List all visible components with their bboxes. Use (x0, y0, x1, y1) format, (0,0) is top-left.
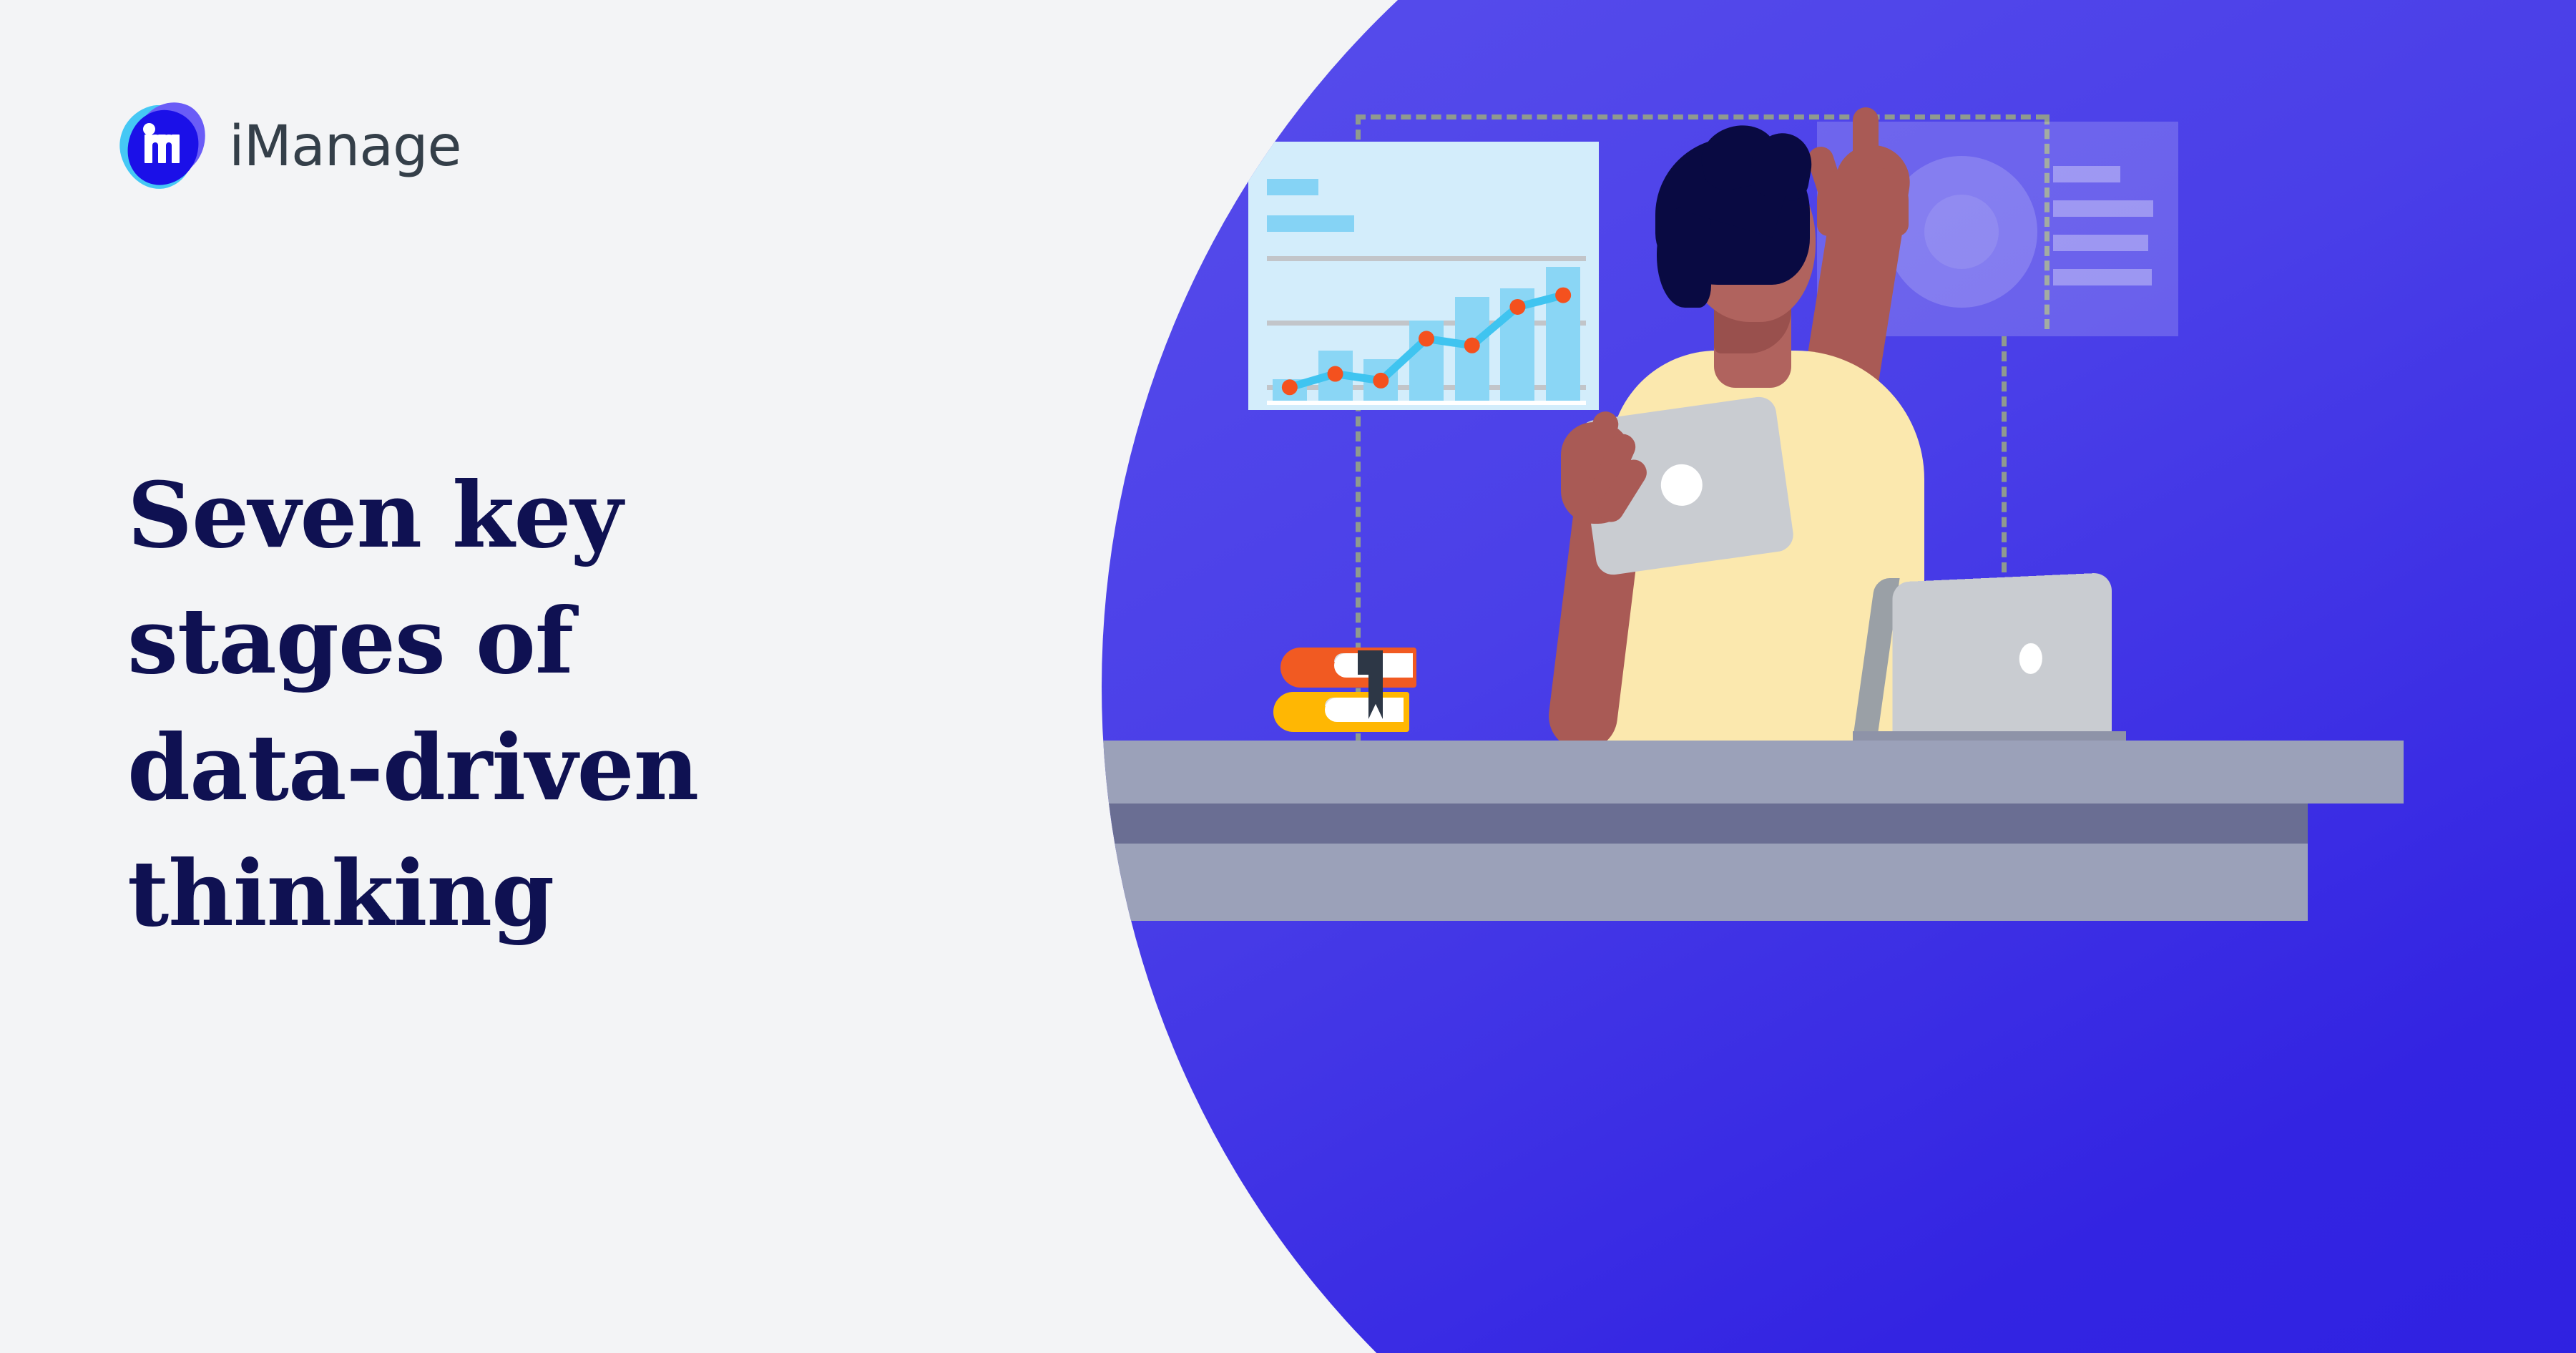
page-title: Seven key stages of data-driven thinking (127, 452, 971, 957)
desk-edge-band (1102, 804, 2308, 844)
chart-data-point (1419, 331, 1434, 346)
logo-dot-icon (143, 123, 155, 135)
person-pointing-hand (1803, 107, 1917, 229)
brand-wordmark: iManage (229, 119, 461, 175)
chart-data-point (1464, 338, 1480, 353)
desk-front-panel (1102, 844, 2308, 921)
chart-data-point (1328, 366, 1343, 382)
chart-header-bar-1 (1267, 179, 1318, 195)
headline-line-4: thinking (127, 831, 971, 957)
headline-line-1: Seven key (127, 452, 971, 578)
person-left-hand (1555, 408, 1648, 537)
brand-lockup[interactable]: iManage (120, 102, 461, 192)
logo-m-glyph-icon (145, 135, 180, 163)
imanage-logo-icon (120, 102, 205, 192)
laptop-device[interactable] (1860, 572, 2121, 744)
book-stack (1273, 648, 1416, 741)
headline-line-3: data-driven (127, 705, 971, 831)
chart-data-point (1282, 379, 1298, 395)
illustration-scene (1102, 0, 2576, 1353)
book-bottom-pages (1325, 698, 1404, 722)
chart-data-point (1373, 373, 1389, 389)
headline-line-2: stages of (127, 578, 971, 704)
person-hair-side (1657, 207, 1711, 308)
desk-surface (1102, 741, 2404, 804)
chart-header-bar-2 (1267, 215, 1354, 232)
tablet-logo-icon (1658, 461, 1705, 509)
hero-banner: iManage Seven key stages of data-driven … (0, 0, 2576, 1353)
palm (1817, 167, 1909, 236)
laptop-logo-icon (2019, 643, 2042, 675)
laptop-lid (1892, 572, 2112, 733)
